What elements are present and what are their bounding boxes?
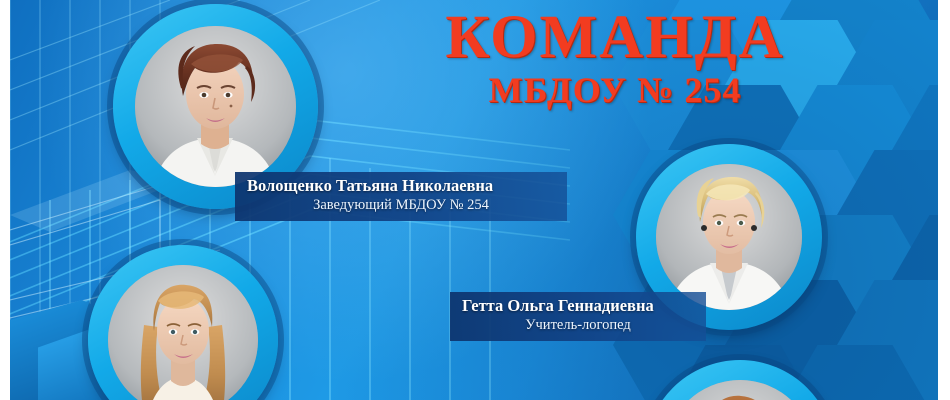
left-white-margin	[0, 0, 10, 400]
portrait-photo-getta	[656, 164, 802, 310]
caption-role: Учитель-логопед	[462, 316, 694, 335]
portrait-third	[88, 245, 278, 400]
caption-getta: Гетта Ольга Геннадиевна Учитель-логопед	[450, 292, 706, 341]
caption-name: Волощенко Татьяна Николаевна	[247, 176, 555, 196]
portrait-photo-third	[108, 265, 258, 400]
portrait-photo-fourth	[665, 380, 815, 400]
team-poster: КОМАНДА МБДОУ № 254	[0, 0, 950, 400]
caption-voloshchenko: Волощенко Татьяна Николаевна Заведующий …	[235, 172, 567, 221]
title-sub: МБДОУ № 254	[415, 70, 815, 110]
right-white-margin	[938, 0, 950, 400]
poster-title: КОМАНДА МБДОУ № 254	[415, 6, 815, 110]
portrait-photo-voloshchenko	[135, 26, 296, 187]
caption-role: Заведующий МБДОУ № 254	[247, 196, 555, 215]
title-main: КОМАНДА	[415, 6, 815, 70]
caption-name: Гетта Ольга Геннадиевна	[462, 296, 694, 316]
